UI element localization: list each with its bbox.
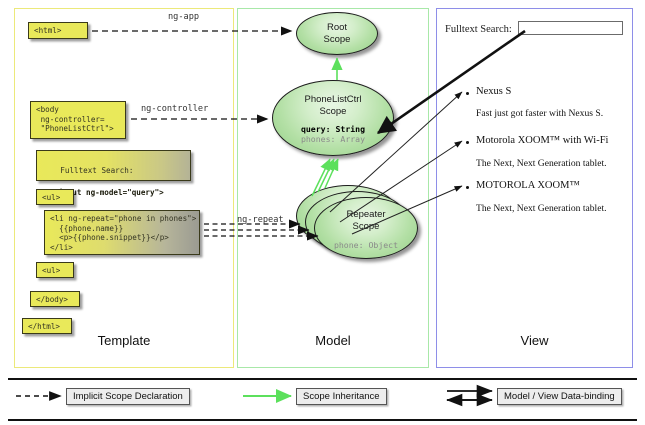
query-databinding-connector <box>378 31 525 133</box>
connector-overlay <box>0 0 645 425</box>
repeater-view-databinding-connector <box>340 141 462 222</box>
repeater-view-databinding-connector <box>352 186 462 234</box>
scope-inheritance-repeater-connector <box>312 159 330 196</box>
diagram-canvas: <html> <body ng-controller= "PhoneListCt… <box>0 0 645 425</box>
repeater-view-databinding-connector <box>330 92 462 212</box>
